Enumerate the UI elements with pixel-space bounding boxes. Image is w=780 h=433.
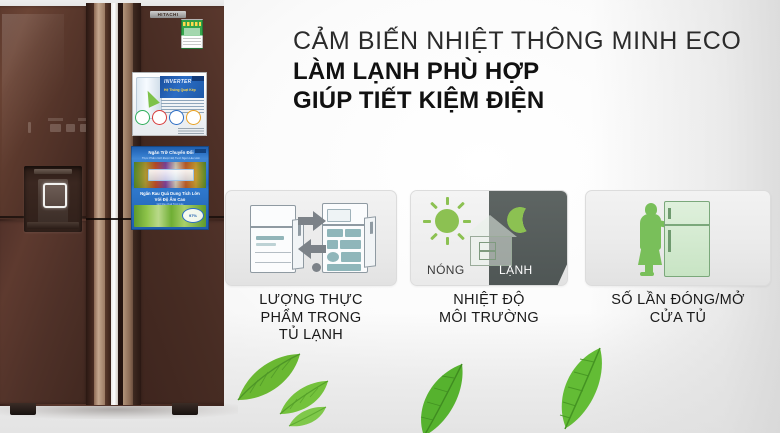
feature-circle-4 xyxy=(186,110,201,125)
refrigerator-product-image: HITACHI INVERTER Hệ Thống Quạt Kép xyxy=(0,0,224,415)
card-ambient-temperature-art: NÓNG LẠNH xyxy=(410,190,568,286)
fridge-open-door xyxy=(364,216,376,267)
water-dispenser xyxy=(24,166,82,232)
sticker-footer-lines xyxy=(178,128,204,134)
touch-control-panel xyxy=(26,118,92,138)
sticker-bottom-title: Ngăn Trữ Chuyển Đổi xyxy=(138,150,204,155)
sticker-humidity-badge: 97% xyxy=(182,208,204,223)
full-fridge-icon xyxy=(322,203,368,273)
shelf xyxy=(256,243,276,246)
dispenser-drip-tray xyxy=(27,222,79,229)
leaf-icon xyxy=(288,404,328,430)
sun-icon xyxy=(435,209,459,233)
panel-label-1 xyxy=(48,118,63,121)
panel-button-3 xyxy=(66,124,75,132)
caption-line: NHIỆT ĐỘ xyxy=(410,292,568,310)
label-hot: NÓNG xyxy=(427,263,465,277)
handle-strip-2 xyxy=(94,3,105,405)
woman-foot xyxy=(640,272,654,276)
feature-circle-2 xyxy=(152,110,167,125)
sticker-drawer-graphic xyxy=(148,169,194,181)
food-item-round xyxy=(327,252,339,262)
sun-ray xyxy=(446,237,449,245)
promo-banner: HITACHI INVERTER Hệ Thống Quạt Kép xyxy=(0,0,780,433)
fridge-foot-left xyxy=(10,403,36,415)
feature-circle-3 xyxy=(169,110,184,125)
leaf-icon xyxy=(552,344,608,432)
card-ambient-temperature-caption: NHIỆT ĐỘ MÔI TRƯỜNG xyxy=(410,292,568,327)
fridge-split xyxy=(665,224,709,226)
arrow-dot xyxy=(312,263,321,272)
sticker-bottom-title3: Với Độ Ẩm Cao xyxy=(136,197,204,202)
door-bottom-right xyxy=(139,221,224,404)
food-item xyxy=(327,209,351,222)
sticker-subtitle: Hệ Thống Quạt Kép xyxy=(164,88,196,92)
feature-cards: LƯỢNG THỰC PHẨM TRONG TỦ LẠNH xyxy=(225,190,780,370)
caption-line: LƯỢNG THỰC xyxy=(225,292,397,310)
label-cold: LẠNH xyxy=(499,263,533,277)
leaf-icon xyxy=(412,362,468,433)
shelf-line xyxy=(255,262,291,263)
vegetable-drawer-sticker: Ngăn Trữ Chuyển Đổi Thực Phẩm Giữ Được Đ… xyxy=(131,146,209,230)
hitachi-logo: HITACHI xyxy=(150,11,186,18)
card-food-amount-art xyxy=(225,190,397,286)
inverter-sticker: INVERTER Hệ Thống Quạt Kép xyxy=(132,72,207,136)
sticker-airflow-arrow-icon xyxy=(142,88,160,108)
energy-stars xyxy=(183,22,201,26)
headline-block: CẢM BIẾN NHIỆT THÔNG MINH ECO LÀM LẠNH P… xyxy=(293,26,763,115)
card-food-amount: LƯỢNG THỰC PHẨM TRONG TỦ LẠNH xyxy=(225,190,397,345)
sun-ray xyxy=(423,220,431,223)
card-food-amount-caption: LƯỢNG THỰC PHẨM TRONG TỦ LẠNH xyxy=(225,292,397,345)
food-item xyxy=(327,264,361,271)
card-ambient-temperature: NÓNG LẠNH NHIỆT ĐỘ MÔI TRƯỜNG xyxy=(410,190,568,327)
food-item xyxy=(341,252,361,262)
arrow-left-icon xyxy=(298,239,326,259)
panel-button-2 xyxy=(50,124,61,132)
fridge-handle-bottom xyxy=(668,230,671,252)
handle-strip-1 xyxy=(86,3,94,405)
food-item xyxy=(327,240,338,249)
house-icon xyxy=(463,215,517,265)
food-item xyxy=(340,240,361,249)
dispenser-label xyxy=(34,169,72,174)
door-handle xyxy=(370,222,373,234)
sticker-bottom-title2: Ngăn Rau Quả Dung Tích Lớn xyxy=(136,191,204,196)
empty-fridge-icon xyxy=(250,205,296,273)
caption-line: SỐ LẦN ĐÓNG/MỞ xyxy=(585,292,771,310)
shelf xyxy=(256,236,284,240)
panel-button-1 xyxy=(28,122,31,133)
food-item xyxy=(345,229,361,237)
arrow-right-icon xyxy=(298,211,326,231)
energy-text-lines xyxy=(183,38,201,47)
card-door-open-count-caption: SỐ LẦN ĐÓNG/MỞ CỬA TỦ xyxy=(585,292,771,327)
caption-line: CỬA TỦ xyxy=(585,310,771,328)
feature-circle-1 xyxy=(135,110,150,125)
fridge-foot-right xyxy=(172,403,198,415)
house-roof xyxy=(463,215,517,237)
energy-mid xyxy=(184,28,200,35)
caption-line: TỦ LẠNH xyxy=(225,327,397,345)
fridge-split xyxy=(323,224,367,226)
sticker-title: INVERTER xyxy=(164,79,192,85)
woman-silhouette-icon xyxy=(636,203,666,275)
caption-line: PHẨM TRONG xyxy=(225,310,397,328)
card-door-open-count-art xyxy=(585,190,771,286)
shelf-line xyxy=(255,252,291,253)
energy-rating-label xyxy=(181,19,203,49)
headline-line-3: GIÚP TIẾT KIỆM ĐIỆN xyxy=(293,86,763,115)
sticker-bottom-subtitle: Thực Phẩm Giữ Được Độ Tươi Ngon Lâu Hơn xyxy=(138,156,204,160)
dispenser-nozzle xyxy=(38,179,68,223)
handle-strip-4 xyxy=(111,3,118,405)
sun-ray xyxy=(446,197,449,205)
fridge-handle-top xyxy=(668,208,671,219)
food-item xyxy=(327,229,343,237)
headline-line-2: LÀM LẠNH PHÙ HỢP xyxy=(293,57,763,86)
door-bottom-left xyxy=(0,221,88,404)
caption-line: MÔI TRƯỜNG xyxy=(410,310,568,328)
sticker-feature-circles xyxy=(135,110,201,125)
headline-line-1: CẢM BIẾN NHIỆT THÔNG MINH ECO xyxy=(293,26,763,57)
dispenser-button xyxy=(43,183,67,208)
green-fridge-icon xyxy=(664,201,710,277)
fridge-split xyxy=(251,226,295,228)
sticker-tag xyxy=(192,76,204,81)
house-window xyxy=(479,242,496,260)
card-door-open-count: SỐ LẦN ĐÓNG/MỞ CỬA TỦ xyxy=(585,190,771,327)
